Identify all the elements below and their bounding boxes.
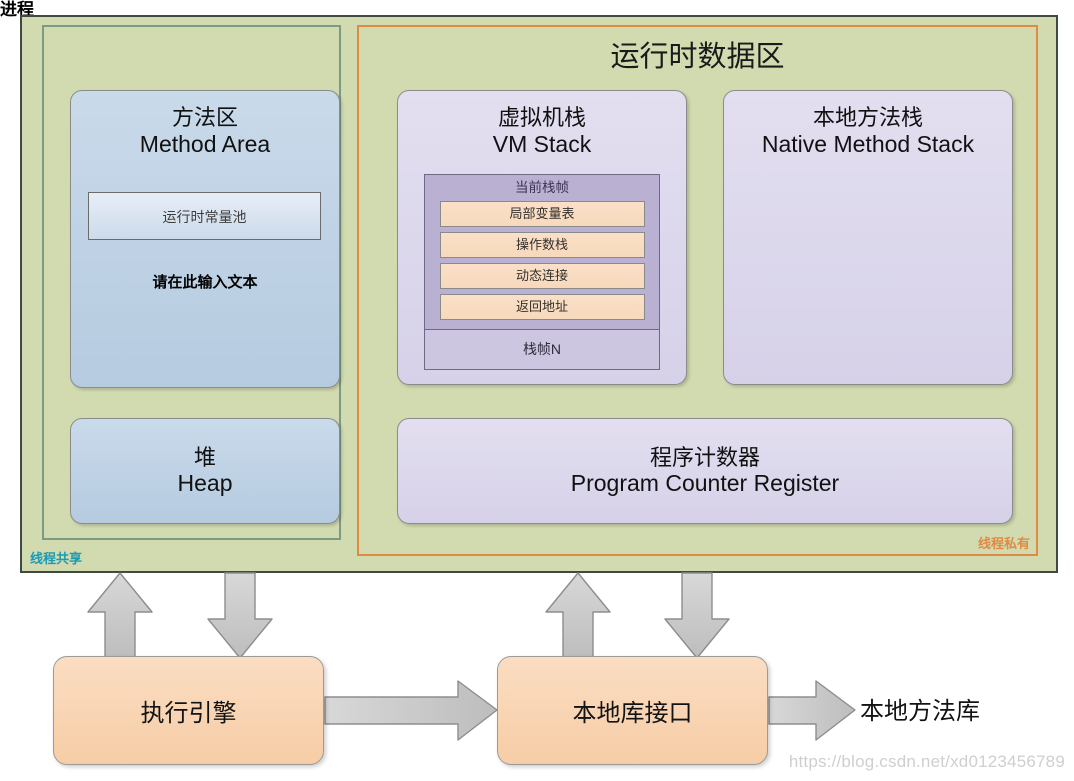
native-method-stack-title-en: Native Method Stack	[762, 131, 974, 158]
heap-title-en: Heap	[178, 470, 233, 497]
vm-stack-title-en: VM Stack	[493, 131, 591, 158]
heap-panel[interactable]: 堆 Heap	[70, 418, 340, 524]
method-area-placeholder-text: 请在此输入文本	[70, 268, 340, 296]
frame-item-local-variable-table[interactable]: 局部变量表	[440, 201, 645, 227]
native-library-interface-box[interactable]: 本地库接口	[497, 656, 768, 765]
program-counter-register-panel[interactable]: 程序计数器 Program Counter Register	[397, 418, 1013, 524]
runtime-constant-pool-box[interactable]: 运行时常量池	[88, 192, 321, 240]
native-method-library-label: 本地方法库	[860, 692, 1060, 732]
stack-frame-n[interactable]: 栈帧N	[425, 330, 659, 369]
watermark-text: https://blog.csdn.net/xd0123456789	[700, 750, 1065, 774]
arrow-exec-engine-down	[208, 573, 272, 658]
thread-private-label: 线程私有	[930, 533, 1030, 555]
frame-item-operand-stack[interactable]: 操作数栈	[440, 232, 645, 258]
vm-stack-title-cn: 虚拟机栈	[498, 105, 586, 131]
heap-title-cn: 堆	[194, 445, 216, 471]
native-method-stack-title-cn: 本地方法栈	[813, 105, 923, 131]
arrow-interface-to-library	[769, 681, 855, 740]
thread-shared-label: 线程共享	[30, 548, 150, 570]
arrow-native-interface-down	[665, 573, 729, 658]
method-area-title-cn: 方法区	[172, 105, 238, 131]
pc-register-title-en: Program Counter Register	[571, 470, 839, 497]
execution-engine-box[interactable]: 执行引擎	[53, 656, 324, 765]
pc-register-title-cn: 程序计数器	[650, 445, 760, 471]
current-stack-frame-title: 当前栈帧	[425, 175, 659, 201]
runtime-data-area-title: 运行时数据区	[357, 35, 1038, 79]
arrow-exec-to-interface	[325, 681, 497, 740]
stack-frames-container: 当前栈帧 局部变量表 操作数栈 动态连接 返回地址 栈帧N	[424, 174, 660, 370]
current-stack-frame[interactable]: 当前栈帧 局部变量表 操作数栈 动态连接 返回地址	[425, 175, 659, 330]
native-method-stack-panel[interactable]: 本地方法栈 Native Method Stack	[723, 90, 1013, 385]
method-area-title-en: Method Area	[140, 131, 270, 158]
arrow-native-interface-up	[546, 573, 610, 658]
arrow-exec-engine-up	[88, 573, 152, 658]
frame-item-dynamic-linking[interactable]: 动态连接	[440, 263, 645, 289]
frame-item-return-address[interactable]: 返回地址	[440, 294, 645, 320]
